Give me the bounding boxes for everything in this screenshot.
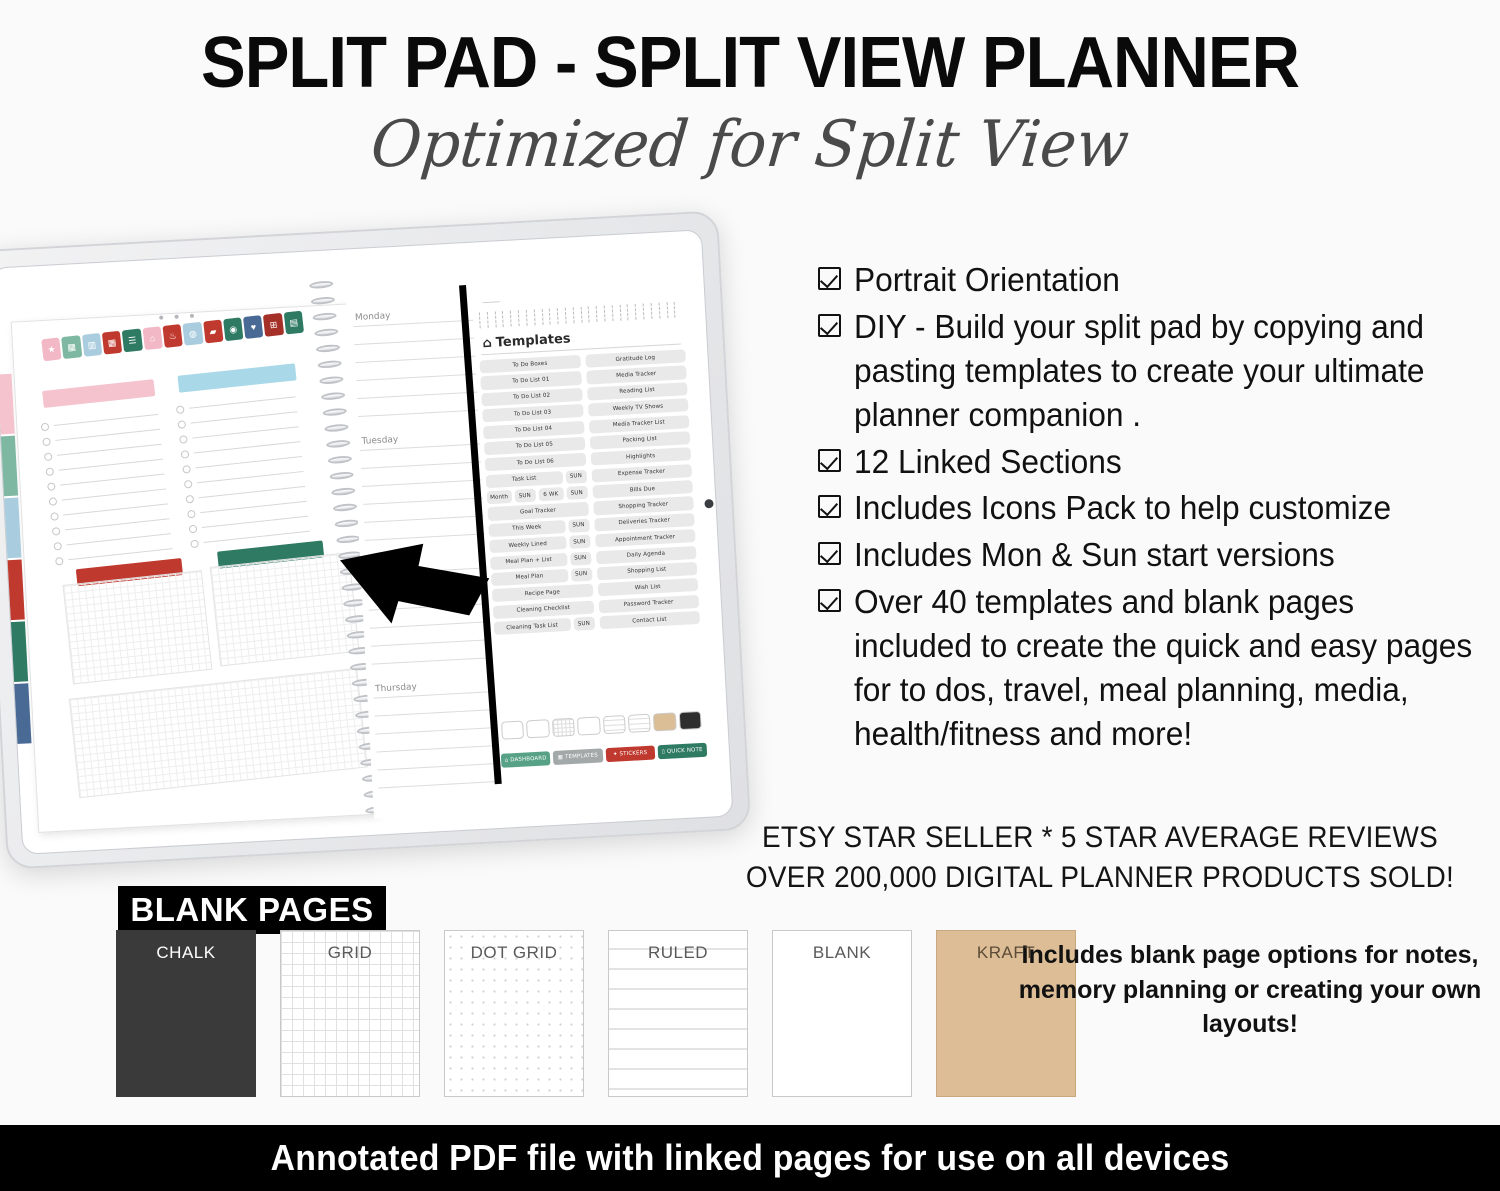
spiral-ring bbox=[322, 407, 347, 417]
paper-swatch-lines[interactable] bbox=[602, 715, 625, 734]
feature-item: Includes Mon & Sun start versions bbox=[818, 533, 1500, 577]
spiral-ring bbox=[311, 296, 336, 306]
home-icon: ⌂ bbox=[482, 336, 492, 351]
nav-tab-label: STICKERS bbox=[619, 750, 647, 757]
template-button[interactable]: Meal Plan bbox=[491, 569, 568, 586]
blank-page-swatches: CHALKGRIDDOT GRIDRULEDBLANKKRAFT bbox=[116, 930, 1076, 1097]
template-row: To Do List 02 bbox=[481, 388, 582, 407]
template-tag-sun[interactable]: SUN bbox=[573, 617, 595, 631]
template-row: Cleaning Task ListSUN bbox=[494, 617, 595, 636]
write-line bbox=[378, 781, 500, 789]
template-row: Daily Agenda bbox=[595, 545, 696, 564]
template-row: Packing List bbox=[589, 431, 690, 450]
coil-tick bbox=[627, 304, 633, 320]
template-button[interactable]: Expense Tracker bbox=[591, 464, 692, 483]
write-line bbox=[377, 763, 499, 771]
template-row: This WeekSUN bbox=[488, 518, 589, 537]
feature-label: DIY - Build your split pad by copying an… bbox=[854, 305, 1474, 437]
template-row: Gratitude Log bbox=[585, 349, 686, 368]
template-row: To Do Boxes bbox=[479, 355, 580, 374]
books-icon[interactable]: ▥ bbox=[82, 333, 103, 357]
etsy-credentials: ETSY STAR SELLER * 5 STAR AVERAGE REVIEW… bbox=[728, 818, 1472, 898]
checkbox-circle-icon[interactable] bbox=[42, 437, 51, 446]
spiral-ring bbox=[334, 519, 359, 529]
side-tab-4[interactable] bbox=[5, 621, 28, 682]
feature-item: Over 40 templates and blank pages includ… bbox=[818, 580, 1500, 756]
template-row: To Do List 03 bbox=[482, 404, 583, 423]
poster-root: SPLIT PAD - SPLIT VIEW PLANNER Optimized… bbox=[0, 0, 1500, 1191]
write-line bbox=[375, 727, 497, 735]
template-tag-sun[interactable]: SUN bbox=[568, 518, 590, 532]
write-line bbox=[364, 515, 486, 523]
coil-tick bbox=[518, 310, 524, 326]
heart-icon[interactable]: ♥ bbox=[243, 315, 264, 339]
arrow-pointer bbox=[337, 534, 502, 633]
spiral-ring bbox=[329, 471, 354, 481]
template-row: Weekly TV Shows bbox=[587, 398, 688, 417]
template-row: Expense Tracker bbox=[591, 464, 692, 483]
template-row: Meal PlanSUN bbox=[491, 568, 592, 587]
spiral-ring bbox=[316, 344, 341, 354]
side-tab-2[interactable] bbox=[0, 498, 21, 559]
coil-tick bbox=[533, 309, 539, 325]
template-columns: To Do BoxesTo Do List 01To Do List 02To … bbox=[479, 349, 700, 635]
checkbox-circle-icon[interactable] bbox=[187, 509, 196, 518]
blank-pages-note: Includes blank page options for notes, m… bbox=[1010, 938, 1490, 1042]
page-subtitle: Optimized for Split View bbox=[34, 108, 1466, 182]
clock-icon[interactable]: ◍ bbox=[183, 322, 204, 346]
template-button[interactable]: Gratitude Log bbox=[585, 349, 686, 368]
template-row: To Do List 04 bbox=[483, 420, 584, 439]
checkbox-checked-icon bbox=[818, 449, 841, 472]
template-button[interactable]: Wish List bbox=[597, 578, 698, 597]
feature-label: 12 Linked Sections bbox=[854, 440, 1122, 484]
template-tag-sun[interactable]: SUN bbox=[514, 489, 536, 503]
template-tag-sun[interactable]: SUN bbox=[569, 535, 591, 549]
template-tag-sun[interactable]: SUN bbox=[570, 568, 592, 582]
checkbox-checked-icon bbox=[818, 542, 841, 565]
checkbox-circle-icon[interactable] bbox=[185, 494, 194, 503]
spiral-ring bbox=[326, 439, 351, 449]
template-row: Task ListSUN bbox=[486, 469, 587, 488]
coil-tick bbox=[565, 307, 571, 323]
template-button[interactable]: Weekly TV Shows bbox=[587, 398, 688, 417]
template-button[interactable]: To Do List 04 bbox=[483, 420, 584, 439]
spiral-ring bbox=[312, 312, 337, 322]
template-button[interactable]: Highlights bbox=[590, 447, 691, 466]
side-tab-3[interactable] bbox=[2, 559, 25, 620]
spiral-ring bbox=[319, 375, 344, 385]
template-row: Meal Plan + ListSUN bbox=[490, 551, 591, 570]
grid-icon[interactable]: ▦ bbox=[102, 331, 123, 355]
blank-page-label: KRAFT bbox=[937, 943, 1075, 963]
side-tab-0[interactable] bbox=[0, 374, 15, 435]
day-label-tuesday: Tuesday bbox=[361, 435, 398, 447]
checkbox-circle-icon[interactable] bbox=[41, 422, 50, 431]
write-line bbox=[372, 657, 494, 665]
coil-tick bbox=[658, 302, 664, 318]
template-button[interactable]: Recipe Page bbox=[492, 584, 593, 603]
template-button[interactable]: Month bbox=[487, 490, 512, 504]
template-button[interactable]: To Do List 02 bbox=[481, 388, 582, 407]
coil-tick bbox=[619, 305, 625, 321]
footer-text: Annotated PDF file with linked pages for… bbox=[271, 1137, 1230, 1179]
blank-page-label: DOT GRID bbox=[445, 943, 583, 963]
template-row: Deliveries Tracker bbox=[594, 513, 695, 532]
feature-item: Portrait Orientation bbox=[818, 258, 1500, 302]
checkbox-circle-icon[interactable] bbox=[49, 497, 58, 506]
template-tag-sun[interactable]: SUN bbox=[565, 469, 587, 483]
coil-tick bbox=[666, 302, 672, 318]
feature-item: Includes Icons Pack to help customize bbox=[818, 486, 1500, 530]
coil-tick bbox=[494, 311, 500, 327]
checkbox-circle-icon[interactable] bbox=[47, 482, 56, 491]
template-button-6wk[interactable]: 6 WK bbox=[538, 487, 564, 502]
blank-page-label: BLANK bbox=[773, 943, 911, 963]
template-button[interactable]: Appointment Tracker bbox=[595, 529, 696, 548]
feature-label: Includes Mon & Sun start versions bbox=[854, 533, 1335, 577]
write-line bbox=[361, 461, 483, 469]
blank-page-card-grid[interactable]: GRID bbox=[280, 930, 420, 1097]
nav-tab-dashboard[interactable]: ⌂ DASHBOARD bbox=[501, 751, 551, 768]
food-icon[interactable]: ♨ bbox=[162, 324, 183, 348]
day-label-thursday: Thursday bbox=[375, 682, 417, 694]
checkbox-circle-icon[interactable] bbox=[181, 450, 190, 459]
blank-page-card-ruled[interactable]: RULED bbox=[608, 930, 748, 1097]
coil-tick bbox=[526, 310, 532, 326]
coil-tick bbox=[635, 304, 641, 320]
note-grid-right bbox=[210, 552, 360, 666]
template-button[interactable]: To Do List 06 bbox=[485, 453, 586, 472]
tablet-screen: • • • ★▦▥▦☰⌂♨◍▰◉♥⊞▤ MondayTue bbox=[0, 229, 733, 855]
coil-decoration bbox=[479, 302, 680, 329]
template-row: Reading List bbox=[587, 382, 688, 401]
checklist-right bbox=[175, 389, 310, 551]
checkbox-circle-icon[interactable] bbox=[176, 405, 185, 414]
paper-swatch-row[interactable] bbox=[501, 711, 702, 740]
template-row: Media Tracker bbox=[586, 366, 687, 385]
template-row: Recipe Page bbox=[492, 584, 593, 603]
blank-page-card-dotgrid[interactable]: DOT GRID bbox=[444, 930, 584, 1097]
template-button[interactable]: Task List bbox=[486, 471, 563, 488]
template-tag-sun[interactable]: SUN bbox=[569, 551, 591, 565]
checkbox-circle-icon[interactable] bbox=[189, 524, 198, 533]
template-button[interactable]: Media Tracker List bbox=[588, 415, 689, 434]
spiral-ring bbox=[331, 487, 356, 497]
coil-tick bbox=[502, 311, 508, 327]
fitness-icon[interactable]: ⊞ bbox=[263, 313, 284, 337]
template-column-right: Gratitude LogMedia TrackerReading ListWe… bbox=[585, 349, 700, 629]
bottom-nav-bar[interactable]: ⌂ DASHBOARD▦ TEMPLATES✦ STICKERS▯ QUICK … bbox=[501, 743, 707, 768]
template-row: Appointment Tracker bbox=[595, 529, 696, 548]
template-button[interactable]: Weekly Lined bbox=[489, 536, 566, 553]
template-button[interactable]: Cleaning Task List bbox=[494, 618, 571, 635]
coil-tick bbox=[541, 309, 547, 325]
write-line bbox=[371, 639, 493, 647]
etsy-line-1: ETSY STAR SELLER * 5 STAR AVERAGE REVIEW… bbox=[728, 818, 1472, 858]
etsy-line-2: OVER 200,000 DIGITAL PLANNER PRODUCTS SO… bbox=[728, 858, 1472, 898]
coil-tick bbox=[596, 306, 602, 322]
blank-page-card-blank[interactable]: BLANK bbox=[772, 930, 912, 1097]
template-row: Shopping Tracker bbox=[593, 496, 694, 515]
template-row: Contact List bbox=[599, 611, 700, 630]
template-button[interactable]: To Do List 03 bbox=[482, 404, 583, 423]
template-row: Media Tracker List bbox=[588, 415, 689, 434]
coil-tick bbox=[580, 307, 586, 323]
template-row: Password Tracker bbox=[598, 595, 699, 614]
paper-swatch-grid[interactable] bbox=[552, 718, 575, 737]
template-button[interactable]: Contact List bbox=[599, 611, 700, 630]
checkbox-circle-icon[interactable] bbox=[44, 452, 53, 461]
write-line bbox=[355, 356, 477, 364]
side-tab-1[interactable] bbox=[0, 436, 18, 497]
templates-heading: ⌂ Templates bbox=[482, 331, 571, 351]
template-button[interactable]: Meal Plan + List bbox=[490, 552, 567, 569]
nav-tab-templates[interactable]: ▦ TEMPLATES bbox=[553, 748, 603, 765]
page-title: SPLIT PAD - SPLIT VIEW PLANNER bbox=[53, 22, 1448, 104]
template-button[interactable]: Daily Agenda bbox=[595, 545, 696, 564]
template-row: Highlights bbox=[590, 447, 691, 466]
spiral-ring bbox=[309, 280, 334, 290]
spiral-ring bbox=[333, 503, 358, 513]
nav-tab-label: TEMPLATES bbox=[565, 753, 598, 761]
tablet-mockup: • • • ★▦▥▦☰⌂♨◍▰◉♥⊞▤ MondayTue bbox=[0, 230, 750, 870]
blank-pages-badge: BLANK PAGES bbox=[118, 886, 386, 934]
templates-heading-label: Templates bbox=[495, 331, 571, 350]
checkbox-checked-icon bbox=[818, 495, 841, 518]
checklist-left bbox=[40, 407, 173, 569]
write-line bbox=[376, 745, 498, 753]
write-line bbox=[363, 497, 485, 505]
home-icon[interactable]: ⌂ bbox=[142, 326, 163, 350]
checkbox-checked-icon bbox=[818, 314, 841, 337]
blank-page-label: CHALK bbox=[117, 943, 255, 963]
paper-swatch-chalk[interactable] bbox=[678, 711, 701, 730]
checkbox-circle-icon[interactable] bbox=[50, 512, 59, 521]
template-row: MonthSUN6 WKSUN bbox=[487, 486, 588, 505]
spiral-ring bbox=[314, 328, 339, 338]
checkbox-circle-icon[interactable] bbox=[52, 526, 61, 535]
note-grid-left bbox=[62, 570, 212, 684]
template-button[interactable]: Shopping Tracker bbox=[593, 496, 694, 515]
coil-tick bbox=[588, 306, 594, 322]
nav-tab-stickers[interactable]: ✦ STICKERS bbox=[605, 746, 655, 763]
coil-tick bbox=[604, 305, 610, 321]
checkbox-circle-icon[interactable] bbox=[53, 541, 62, 550]
template-button[interactable]: Packing List bbox=[589, 431, 690, 450]
coil-tick bbox=[611, 305, 617, 321]
template-button[interactable]: To Do List 01 bbox=[480, 371, 581, 390]
list-icon[interactable]: ☰ bbox=[122, 328, 143, 352]
template-row: Shopping List bbox=[596, 562, 697, 581]
template-button[interactable]: Goal Tracker bbox=[487, 502, 588, 521]
paper-swatch-blank[interactable] bbox=[501, 721, 524, 740]
write-line bbox=[357, 391, 479, 399]
checkbox-circle-icon[interactable] bbox=[45, 467, 54, 476]
feature-label: Includes Icons Pack to help customize bbox=[854, 486, 1391, 530]
template-button[interactable]: Bills Due bbox=[592, 480, 693, 499]
write-line bbox=[358, 409, 480, 417]
template-row: Goal Tracker bbox=[487, 502, 588, 521]
template-tag-sun[interactable]: SUN bbox=[566, 486, 588, 500]
tablet-body: • • • ★▦▥▦☰⌂♨◍▰◉♥⊞▤ MondayTue bbox=[0, 210, 751, 869]
template-button[interactable]: Cleaning Checklist bbox=[493, 600, 594, 619]
template-row: Cleaning Checklist bbox=[493, 600, 594, 619]
coil-tick bbox=[557, 308, 563, 324]
coil-tick bbox=[650, 303, 656, 319]
coil-tick bbox=[572, 307, 578, 323]
template-button[interactable]: Shopping List bbox=[596, 562, 697, 581]
calendar-icon[interactable]: ▦ bbox=[61, 335, 82, 359]
feature-item: DIY - Build your split pad by copying an… bbox=[818, 305, 1500, 437]
spiral-ring bbox=[328, 455, 353, 465]
checkbox-checked-icon bbox=[818, 267, 841, 290]
coil-tick bbox=[487, 312, 493, 328]
folder-icon[interactable]: ▰ bbox=[203, 320, 224, 344]
write-line bbox=[356, 374, 478, 382]
paper-swatch-blank[interactable] bbox=[526, 719, 549, 738]
coil-tick bbox=[549, 308, 555, 324]
spiral-ring bbox=[317, 360, 342, 370]
nav-tab-label: QUICK NOTE bbox=[667, 747, 703, 755]
blank-page-label: RULED bbox=[609, 943, 747, 963]
blank-page-card-chalk[interactable]: CHALK bbox=[116, 930, 256, 1097]
paper-swatch-blank[interactable] bbox=[577, 716, 600, 735]
feature-item: 12 Linked Sections bbox=[818, 440, 1500, 484]
template-button[interactable]: This Week bbox=[488, 520, 565, 537]
blank-page-label: GRID bbox=[281, 943, 419, 963]
checkbox-circle-icon[interactable] bbox=[55, 556, 64, 565]
template-button[interactable]: Media Tracker bbox=[586, 366, 687, 385]
template-button[interactable]: Password Tracker bbox=[598, 595, 699, 614]
nav-tab-label: DASHBOARD bbox=[510, 755, 547, 763]
star-icon[interactable]: ★ bbox=[41, 337, 62, 361]
template-button[interactable]: Deliveries Tracker bbox=[594, 513, 695, 532]
checkbox-circle-icon[interactable] bbox=[184, 479, 193, 488]
template-row: To Do List 01 bbox=[480, 371, 581, 390]
pin-icon[interactable]: ◉ bbox=[223, 317, 244, 341]
checkbox-circle-icon[interactable] bbox=[190, 539, 199, 548]
template-row: Weekly LinedSUN bbox=[489, 535, 590, 554]
feature-label: Over 40 templates and blank pages includ… bbox=[854, 580, 1474, 756]
write-line bbox=[354, 338, 476, 346]
checkbox-circle-icon[interactable] bbox=[179, 435, 188, 444]
side-tab-5[interactable] bbox=[8, 683, 31, 744]
day-label-monday: Monday bbox=[355, 311, 391, 323]
write-line bbox=[375, 709, 497, 717]
checkbox-circle-icon[interactable] bbox=[182, 464, 191, 473]
checkbox-circle-icon[interactable] bbox=[177, 420, 186, 429]
nav-tab-quick-note[interactable]: ▯ QUICK NOTE bbox=[657, 743, 707, 760]
spiral-ring bbox=[321, 391, 346, 401]
write-line bbox=[362, 479, 484, 487]
feature-label: Portrait Orientation bbox=[854, 258, 1120, 302]
coil-tick bbox=[674, 302, 680, 318]
footer-banner: Annotated PDF file with linked pages for… bbox=[0, 1125, 1500, 1191]
template-row: Bills Due bbox=[592, 480, 693, 499]
coil-tick bbox=[643, 303, 649, 319]
template-row: To Do List 05 bbox=[484, 437, 585, 456]
template-button[interactable]: To Do Boxes bbox=[479, 355, 580, 374]
paper-swatch-lines[interactable] bbox=[628, 714, 651, 733]
coil-tick bbox=[479, 312, 485, 328]
spiral-ring bbox=[324, 423, 349, 433]
feature-list: Portrait OrientationDIY - Build your spl… bbox=[818, 258, 1500, 759]
template-button[interactable]: To Do List 05 bbox=[484, 437, 585, 456]
template-button[interactable]: Reading List bbox=[587, 382, 688, 401]
coil-tick bbox=[510, 310, 516, 326]
templates-panel: ⌄ ⌂ Templates To Do BoxesTo Do List 01To… bbox=[472, 291, 714, 802]
template-row: Wish List bbox=[597, 578, 698, 597]
checkbox-checked-icon bbox=[818, 589, 841, 612]
paper-swatch-kraft[interactable] bbox=[653, 712, 676, 731]
chart-icon[interactable]: ▤ bbox=[283, 311, 304, 335]
template-row: To Do List 06 bbox=[485, 453, 586, 472]
